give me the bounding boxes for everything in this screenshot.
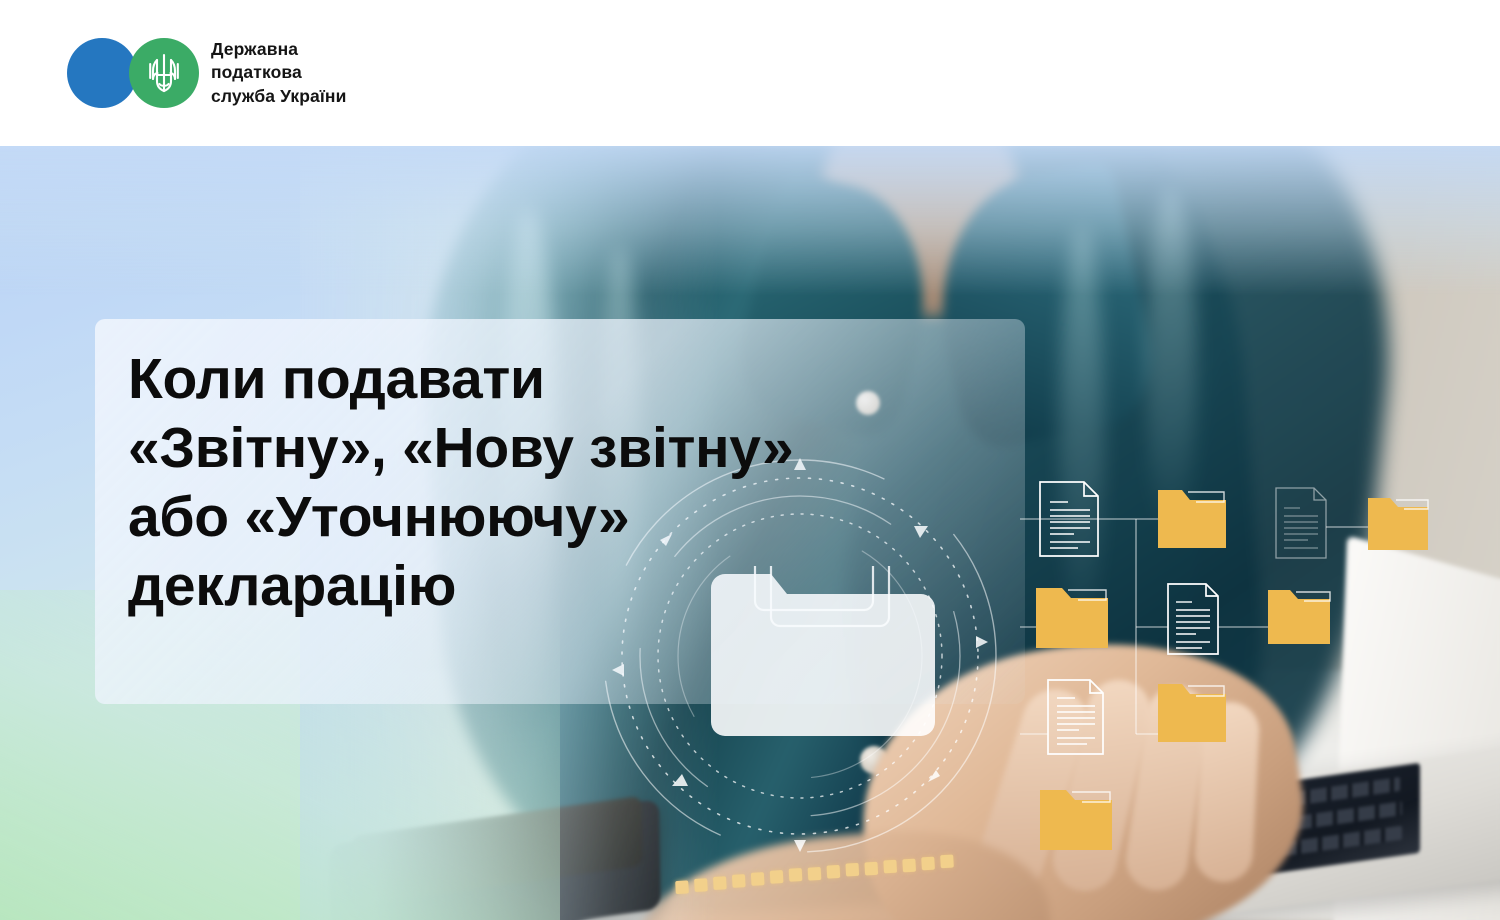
headline-line: Коли подавати [128, 345, 1028, 414]
headline-line: або «Уточнюючу» [128, 483, 1028, 552]
folder-icon [1036, 588, 1108, 648]
headline-line: «Звітну», «Нову звітну» [128, 414, 1028, 483]
site-header: Державна податкова служба України [0, 0, 1500, 146]
file-tree-overlay [1020, 472, 1500, 872]
document-icon [1168, 584, 1218, 654]
folder-icon [1368, 498, 1428, 550]
logo-blue-circle-icon [67, 38, 137, 108]
folder-icon [1158, 490, 1226, 548]
folder-icon [1158, 684, 1226, 742]
poster-page: Державна податкова служба України [0, 0, 1500, 920]
logo-text: Державна податкова служба України [211, 38, 346, 108]
document-icon-ghost [1276, 488, 1326, 558]
document-icon [1048, 680, 1103, 754]
page-title: Коли подавати «Звітну», «Нову звітну» аб… [128, 345, 1028, 621]
hero-banner: Коли подавати «Звітну», «Нову звітну» аб… [0, 146, 1500, 920]
logo[interactable]: Державна податкова служба України [67, 38, 346, 108]
headline-line: декларацію [128, 552, 1028, 621]
folder-icon [1268, 590, 1330, 644]
folder-icon [1040, 790, 1112, 850]
ukraine-trident-icon [129, 38, 199, 108]
logo-marks [67, 38, 199, 108]
